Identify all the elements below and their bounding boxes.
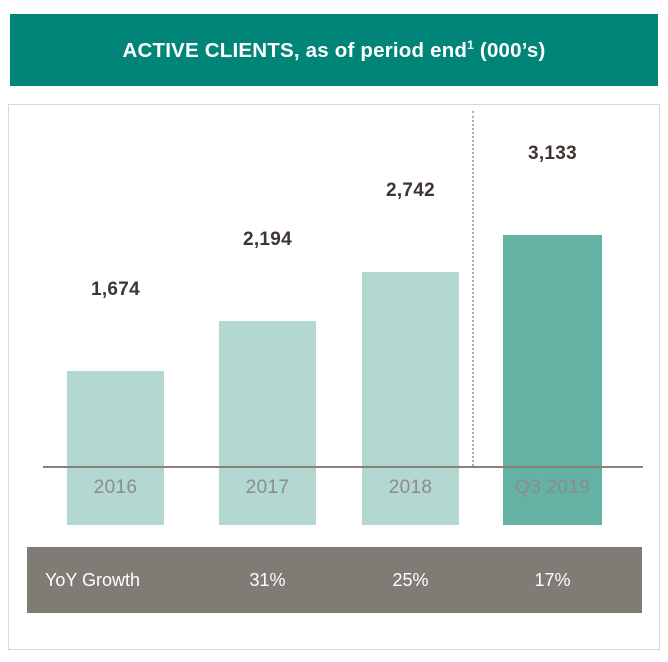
bar-value-2017: 2,194	[219, 229, 316, 251]
chart-header-banner: ACTIVE CLIENTS, as of period end1 (000’s…	[10, 14, 658, 86]
chart-title-suffix: (000’s)	[474, 38, 546, 61]
period-divider-dotted-line	[472, 111, 474, 466]
bar-2016	[67, 371, 164, 525]
x-axis-label-q3-2019: Q3 2019	[503, 477, 602, 499]
bar-value-2018: 2,742	[362, 180, 459, 202]
chart-title: ACTIVE CLIENTS, as of period end1 (000’s…	[122, 38, 545, 63]
chart-plot-area: 1,674 2,194 2,742 3,133 2016 2017 2018 Q…	[9, 105, 661, 525]
yoy-growth-row: YoY Growth 31% 25% 17%	[27, 547, 642, 613]
x-axis-line	[43, 466, 643, 468]
yoy-growth-value-2017: 31%	[219, 547, 316, 613]
x-axis-label-2017: 2017	[219, 477, 316, 499]
chart-card: 1,674 2,194 2,742 3,133 2016 2017 2018 Q…	[8, 104, 660, 650]
bar-value-q3-2019: 3,133	[503, 143, 602, 165]
yoy-growth-value-2018: 25%	[362, 547, 459, 613]
chart-title-main: ACTIVE CLIENTS, as of period end	[122, 38, 467, 61]
chart-title-footnote-marker: 1	[467, 38, 474, 52]
yoy-growth-value-q3-2019: 17%	[503, 547, 602, 613]
yoy-growth-value-2016	[67, 547, 164, 613]
x-axis-label-2018: 2018	[362, 477, 459, 499]
x-axis-label-2016: 2016	[67, 477, 164, 499]
bar-value-2016: 1,674	[67, 279, 164, 301]
